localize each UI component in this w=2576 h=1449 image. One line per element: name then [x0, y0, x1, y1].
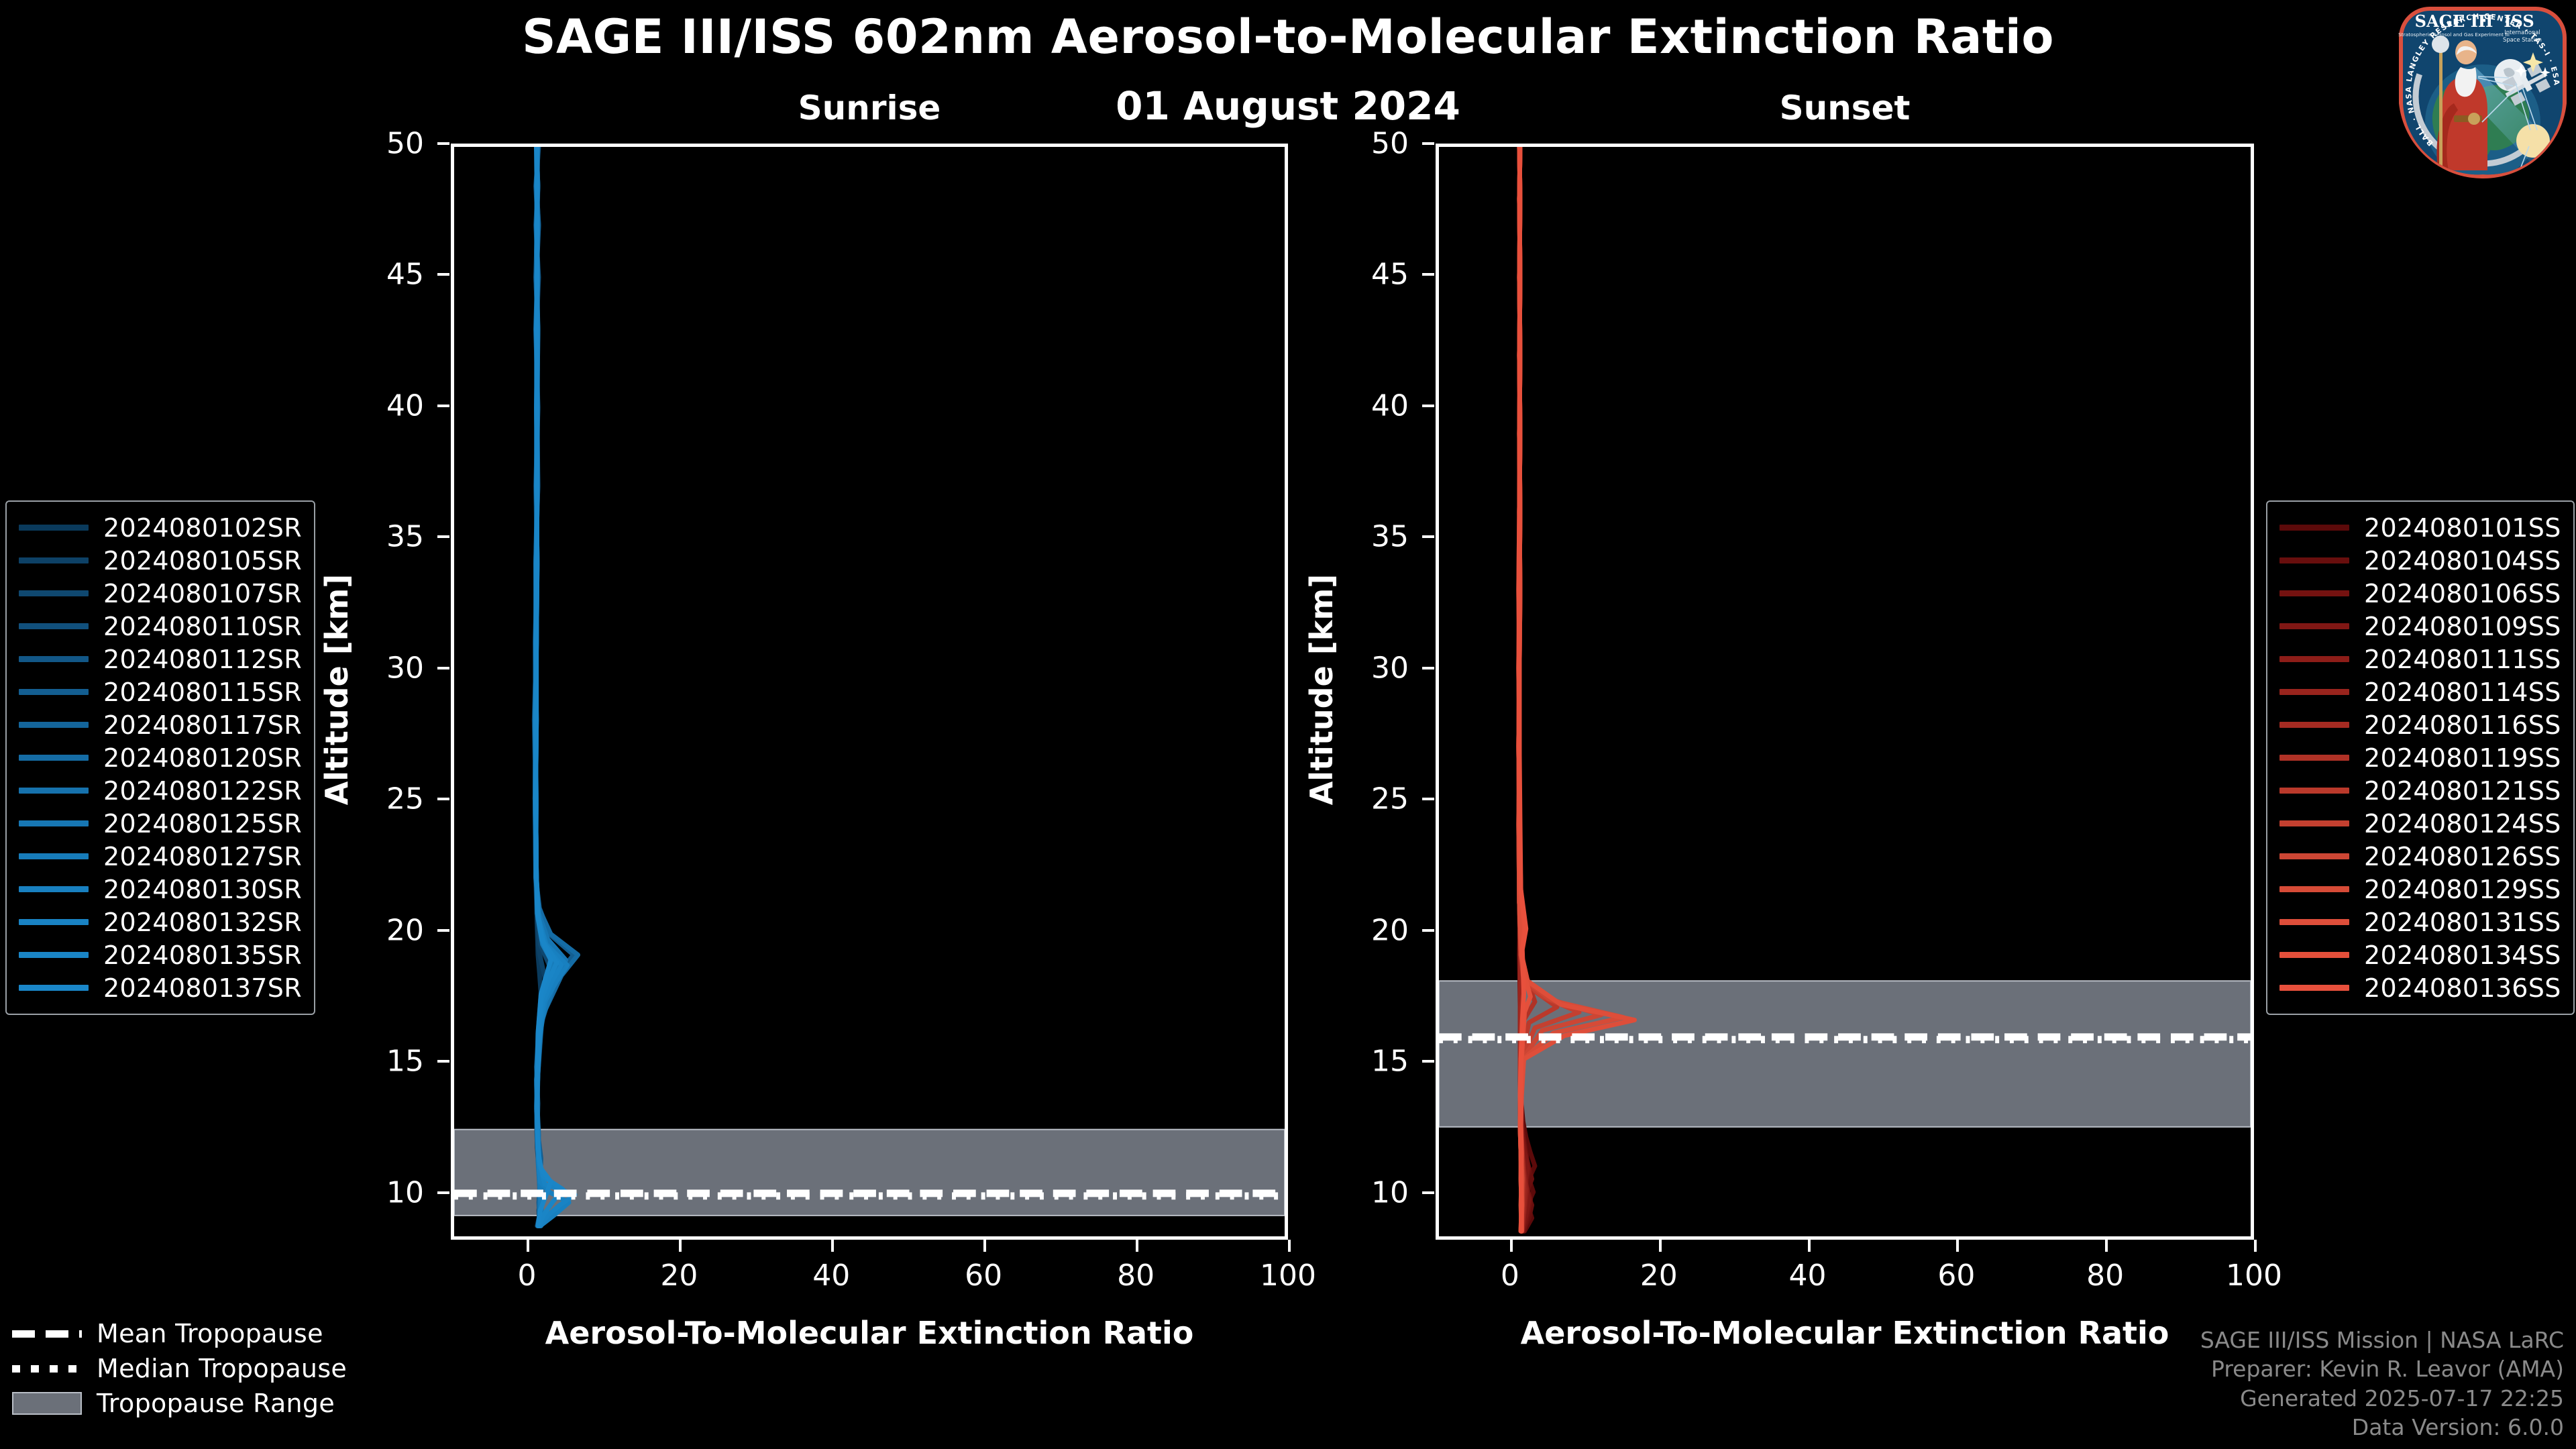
sun-icon [2516, 124, 2550, 158]
legend-color-swatch [19, 525, 89, 531]
x-axis-tick-label: 100 [1234, 1258, 1342, 1293]
y-axis-tick-label: 10 [1308, 1175, 1409, 1210]
legend-item[interactable]: 2024080129SS [2279, 873, 2561, 906]
legend-item-median-tropopause: Median Tropopause [12, 1351, 347, 1386]
legend-color-swatch [19, 722, 89, 728]
legend-item-label: 2024080129SS [2364, 875, 2561, 904]
legend-sunset[interactable]: 2024080101SS2024080104SS2024080106SS2024… [2266, 500, 2575, 1015]
data-series-line [535, 147, 578, 1226]
legend-item[interactable]: 2024080126SS [2279, 840, 2561, 873]
legend-item-label: 2024080120SR [103, 743, 302, 773]
figure-staff [2439, 47, 2443, 172]
sunrise-panel-title: Sunrise [451, 89, 1288, 127]
legend-label-median: Median Tropopause [97, 1354, 347, 1383]
legend-item[interactable]: 2024080112SR [19, 643, 302, 676]
y-axis-tick-label: 50 [1308, 127, 1409, 161]
y-axis-tick-label: 20 [323, 913, 424, 947]
patch-subtitle-right-2: Space Station [2503, 36, 2542, 43]
legend-item-label: 2024080134SS [2364, 941, 2561, 970]
y-axis-tick-label: 10 [323, 1175, 424, 1210]
y-axis-tick [437, 142, 449, 145]
legend-item[interactable]: 2024080125SR [19, 807, 302, 840]
x-axis-tick [1808, 1240, 1811, 1252]
legend-item-label: 2024080121SS [2364, 776, 2561, 806]
legend-item[interactable]: 2024080109SS [2279, 610, 2561, 643]
tropopause-range-band [454, 1130, 1285, 1216]
y-axis-tick [437, 1060, 449, 1063]
legend-item[interactable]: 2024080102SR [19, 511, 302, 544]
y-axis-tick [1422, 1060, 1434, 1063]
legend-color-swatch [2279, 557, 2349, 563]
x-axis-tick-label: 0 [473, 1258, 580, 1293]
legend-item-label: 2024080101SS [2364, 513, 2561, 543]
legend-color-swatch [19, 590, 89, 596]
credit-line-version: Data Version: 6.0.0 [2200, 1413, 2564, 1442]
y-axis-tick-label: 45 [1308, 258, 1409, 292]
sunset-plot-canvas [1439, 147, 2251, 1236]
legend-color-swatch [2279, 952, 2349, 958]
y-axis-tick-label: 45 [323, 258, 424, 292]
legend-item-label: 2024080122SR [103, 776, 302, 806]
legend-item-tropopause-range: Tropopause Range [12, 1386, 347, 1421]
legend-color-swatch [19, 788, 89, 794]
legend-color-swatch [2279, 656, 2349, 662]
data-series-line [536, 147, 576, 1226]
y-axis-tick [437, 405, 449, 407]
dotted-line-icon [12, 1365, 82, 1373]
y-axis-tick-label: 20 [1308, 913, 1409, 947]
legend-item-label: 2024080114SS [2364, 678, 2561, 707]
y-axis-tick [1422, 405, 1434, 407]
legend-item-label: 2024080137SR [103, 973, 302, 1003]
legend-item-label: 2024080135SR [103, 941, 302, 970]
legend-color-swatch [19, 656, 89, 662]
patch-subtitle-left: Stratospheric Aerosol and Gas Experiment… [2398, 32, 2510, 38]
plot-panel-sunrise [451, 144, 1288, 1240]
figure-root: SAGE III/ISS 602nm Aerosol-to-Molecular … [0, 0, 2576, 1449]
y-axis-tick [437, 535, 449, 538]
legend-sunrise[interactable]: 2024080102SR2024080105SR2024080107SR2024… [5, 500, 315, 1015]
credits-block: SAGE III/ISS Mission | NASA LaRC Prepare… [2200, 1326, 2564, 1442]
legend-color-swatch [2279, 919, 2349, 925]
legend-color-swatch [19, 853, 89, 859]
y-axis-tick [1422, 273, 1434, 276]
range-band-icon [12, 1392, 82, 1415]
legend-color-swatch [2279, 755, 2349, 761]
legend-item-label: 2024080132SR [103, 908, 302, 937]
legend-item[interactable]: 2024080104SS [2279, 544, 2561, 577]
legend-color-swatch [2279, 623, 2349, 629]
legend-item[interactable]: 2024080115SR [19, 676, 302, 708]
x-axis-tick [831, 1240, 834, 1252]
legend-color-swatch [2279, 689, 2349, 695]
legend-color-swatch [2279, 525, 2349, 531]
legend-label-range: Tropopause Range [97, 1389, 335, 1418]
x-axis-tick-label: 20 [625, 1258, 733, 1293]
y-axis-tick-label: 40 [323, 388, 424, 423]
legend-item[interactable]: 2024080130SR [19, 873, 302, 906]
legend-item[interactable]: 2024080114SS [2279, 676, 2561, 708]
x-axis-tick-label: 0 [1456, 1258, 1564, 1293]
legend-color-swatch [19, 952, 89, 958]
y-axis-tick [1422, 535, 1434, 538]
legend-item[interactable]: 2024080120SR [19, 741, 302, 774]
legend-color-swatch [2279, 886, 2349, 892]
patch-subtitle-right-1: International [2504, 29, 2540, 36]
x-axis-tick-label: 60 [930, 1258, 1037, 1293]
legend-item-label: 2024080130SR [103, 875, 302, 904]
data-series-line [536, 147, 551, 1226]
y-axis-tick [437, 273, 449, 276]
legend-item-label: 2024080110SR [103, 612, 302, 641]
x-axis-tick [1956, 1240, 1959, 1252]
legend-item[interactable]: 2024080111SS [2279, 643, 2561, 676]
x-axis-tick [1136, 1240, 1138, 1252]
legend-item[interactable]: 2024080110SR [19, 610, 302, 643]
sunrise-plot-canvas [454, 147, 1285, 1236]
sage-iii-iss-mission-patch: BALL · NASA LANGLEY RESEARCH CENTER · TA… [2395, 3, 2571, 178]
legend-item-label: 2024080102SR [103, 513, 302, 543]
legend-item-label: 2024080104SS [2364, 546, 2561, 576]
sunset-x-axis-title: Aerosol-To-Molecular Extinction Ratio [1436, 1315, 2254, 1351]
y-axis-tick [1422, 798, 1434, 800]
legend-color-swatch [19, 919, 89, 925]
y-axis-tick-label: 15 [1308, 1044, 1409, 1079]
legend-color-swatch [19, 623, 89, 629]
legend-item-label: 2024080105SR [103, 546, 302, 576]
legend-item[interactable]: 2024080132SR [19, 906, 302, 938]
legend-item[interactable]: 2024080101SS [2279, 511, 2561, 544]
legend-item-label: 2024080107SR [103, 579, 302, 608]
page-title: SAGE III/ISS 602nm Aerosol-to-Molecular … [0, 9, 2576, 64]
y-axis-tick-label: 40 [1308, 388, 1409, 423]
x-axis-tick [527, 1240, 529, 1252]
legend-item-label: 2024080117SR [103, 710, 302, 740]
legend-color-swatch [2279, 853, 2349, 859]
y-axis-tick [1422, 929, 1434, 932]
x-axis-tick [1510, 1240, 1513, 1252]
legend-item[interactable]: 2024080119SS [2279, 741, 2561, 774]
legend-item-label: 2024080109SS [2364, 612, 2561, 641]
legend-item[interactable]: 2024080121SS [2279, 774, 2561, 807]
x-axis-tick-label: 60 [1902, 1258, 2010, 1293]
legend-item-label: 2024080119SS [2364, 743, 2561, 773]
legend-color-swatch [2279, 985, 2349, 991]
plot-panel-sunset [1436, 144, 2254, 1240]
y-axis-tick [1422, 142, 1434, 145]
x-axis-tick-label: 40 [777, 1258, 885, 1293]
legend-item[interactable]: 2024080106SS [2279, 577, 2561, 610]
y-axis-tick [437, 798, 449, 800]
y-axis-tick-label: 50 [323, 127, 424, 161]
sunrise-x-axis-title: Aerosol-To-Molecular Extinction Ratio [451, 1315, 1288, 1351]
x-axis-tick-label: 40 [1754, 1258, 1862, 1293]
x-axis-tick [2105, 1240, 2108, 1252]
legend-color-swatch [19, 557, 89, 563]
y-axis-tick [437, 1191, 449, 1194]
legend-color-swatch [19, 820, 89, 826]
legend-item[interactable]: 2024080135SR [19, 938, 302, 971]
legend-color-swatch [19, 755, 89, 761]
x-axis-tick-label: 80 [1082, 1258, 1189, 1293]
legend-color-swatch [2279, 788, 2349, 794]
legend-tropopause: Mean Tropopause Median Tropopause Tropop… [12, 1316, 347, 1421]
legend-color-swatch [2279, 820, 2349, 826]
legend-item-label: 2024080131SS [2364, 908, 2561, 937]
sunset-y-axis-title: Altitude [km] [1303, 488, 1340, 891]
y-axis-tick [1422, 667, 1434, 669]
legend-color-swatch [19, 886, 89, 892]
legend-item[interactable]: 2024080137SR [19, 971, 302, 1004]
x-axis-tick [1288, 1240, 1291, 1252]
legend-item[interactable]: 2024080134SS [2279, 938, 2561, 971]
legend-item-label: 2024080126SS [2364, 842, 2561, 871]
legend-item[interactable]: 2024080116SS [2279, 708, 2561, 741]
credit-line-mission: SAGE III/ISS Mission | NASA LaRC [2200, 1326, 2564, 1355]
legend-item[interactable]: 2024080107SR [19, 577, 302, 610]
credit-line-generated: Generated 2025-07-17 22:25 [2200, 1384, 2564, 1413]
legend-label-mean: Mean Tropopause [97, 1319, 323, 1348]
legend-item[interactable]: 2024080117SR [19, 708, 302, 741]
legend-item-label: 2024080112SR [103, 645, 302, 674]
x-axis-tick-label: 20 [1605, 1258, 1713, 1293]
legend-item-label: 2024080125SR [103, 809, 302, 839]
legend-item-label: 2024080106SS [2364, 579, 2561, 608]
x-axis-tick [1659, 1240, 1662, 1252]
dashed-line-icon [12, 1330, 82, 1338]
x-axis-tick [679, 1240, 682, 1252]
legend-color-swatch [19, 985, 89, 991]
legend-item[interactable]: 2024080122SR [19, 774, 302, 807]
legend-item-label: 2024080115SR [103, 678, 302, 707]
legend-item-label: 2024080111SS [2364, 645, 2561, 674]
legend-item[interactable]: 2024080127SR [19, 840, 302, 873]
x-axis-tick-label: 80 [2051, 1258, 2159, 1293]
legend-item-label: 2024080116SS [2364, 710, 2561, 740]
patch-title-iss: ISS [2504, 11, 2534, 31]
y-axis-tick [1422, 1191, 1434, 1194]
patch-title-dot: · [2481, 13, 2487, 30]
x-axis-tick-label: 100 [2200, 1258, 2308, 1293]
credit-line-preparer: Preparer: Kevin R. Leavor (AMA) [2200, 1354, 2564, 1384]
legend-color-swatch [19, 689, 89, 695]
sunrise-y-axis-title: Altitude [km] [319, 488, 355, 891]
sunset-panel-title: Sunset [1436, 89, 2254, 127]
legend-item[interactable]: 2024080124SS [2279, 807, 2561, 840]
y-axis-tick-label: 15 [323, 1044, 424, 1079]
legend-item-label: 2024080136SS [2364, 973, 2561, 1003]
y-axis-tick [437, 667, 449, 669]
legend-item[interactable]: 2024080136SS [2279, 971, 2561, 1004]
legend-item-label: 2024080124SS [2364, 809, 2561, 839]
legend-item[interactable]: 2024080105SR [19, 544, 302, 577]
y-axis-tick [437, 929, 449, 932]
legend-item[interactable]: 2024080131SS [2279, 906, 2561, 938]
legend-color-swatch [2279, 722, 2349, 728]
x-axis-tick [983, 1240, 986, 1252]
legend-item-label: 2024080127SR [103, 842, 302, 871]
legend-color-swatch [2279, 590, 2349, 596]
x-axis-tick [2254, 1240, 2257, 1252]
legend-item-mean-tropopause: Mean Tropopause [12, 1316, 347, 1351]
